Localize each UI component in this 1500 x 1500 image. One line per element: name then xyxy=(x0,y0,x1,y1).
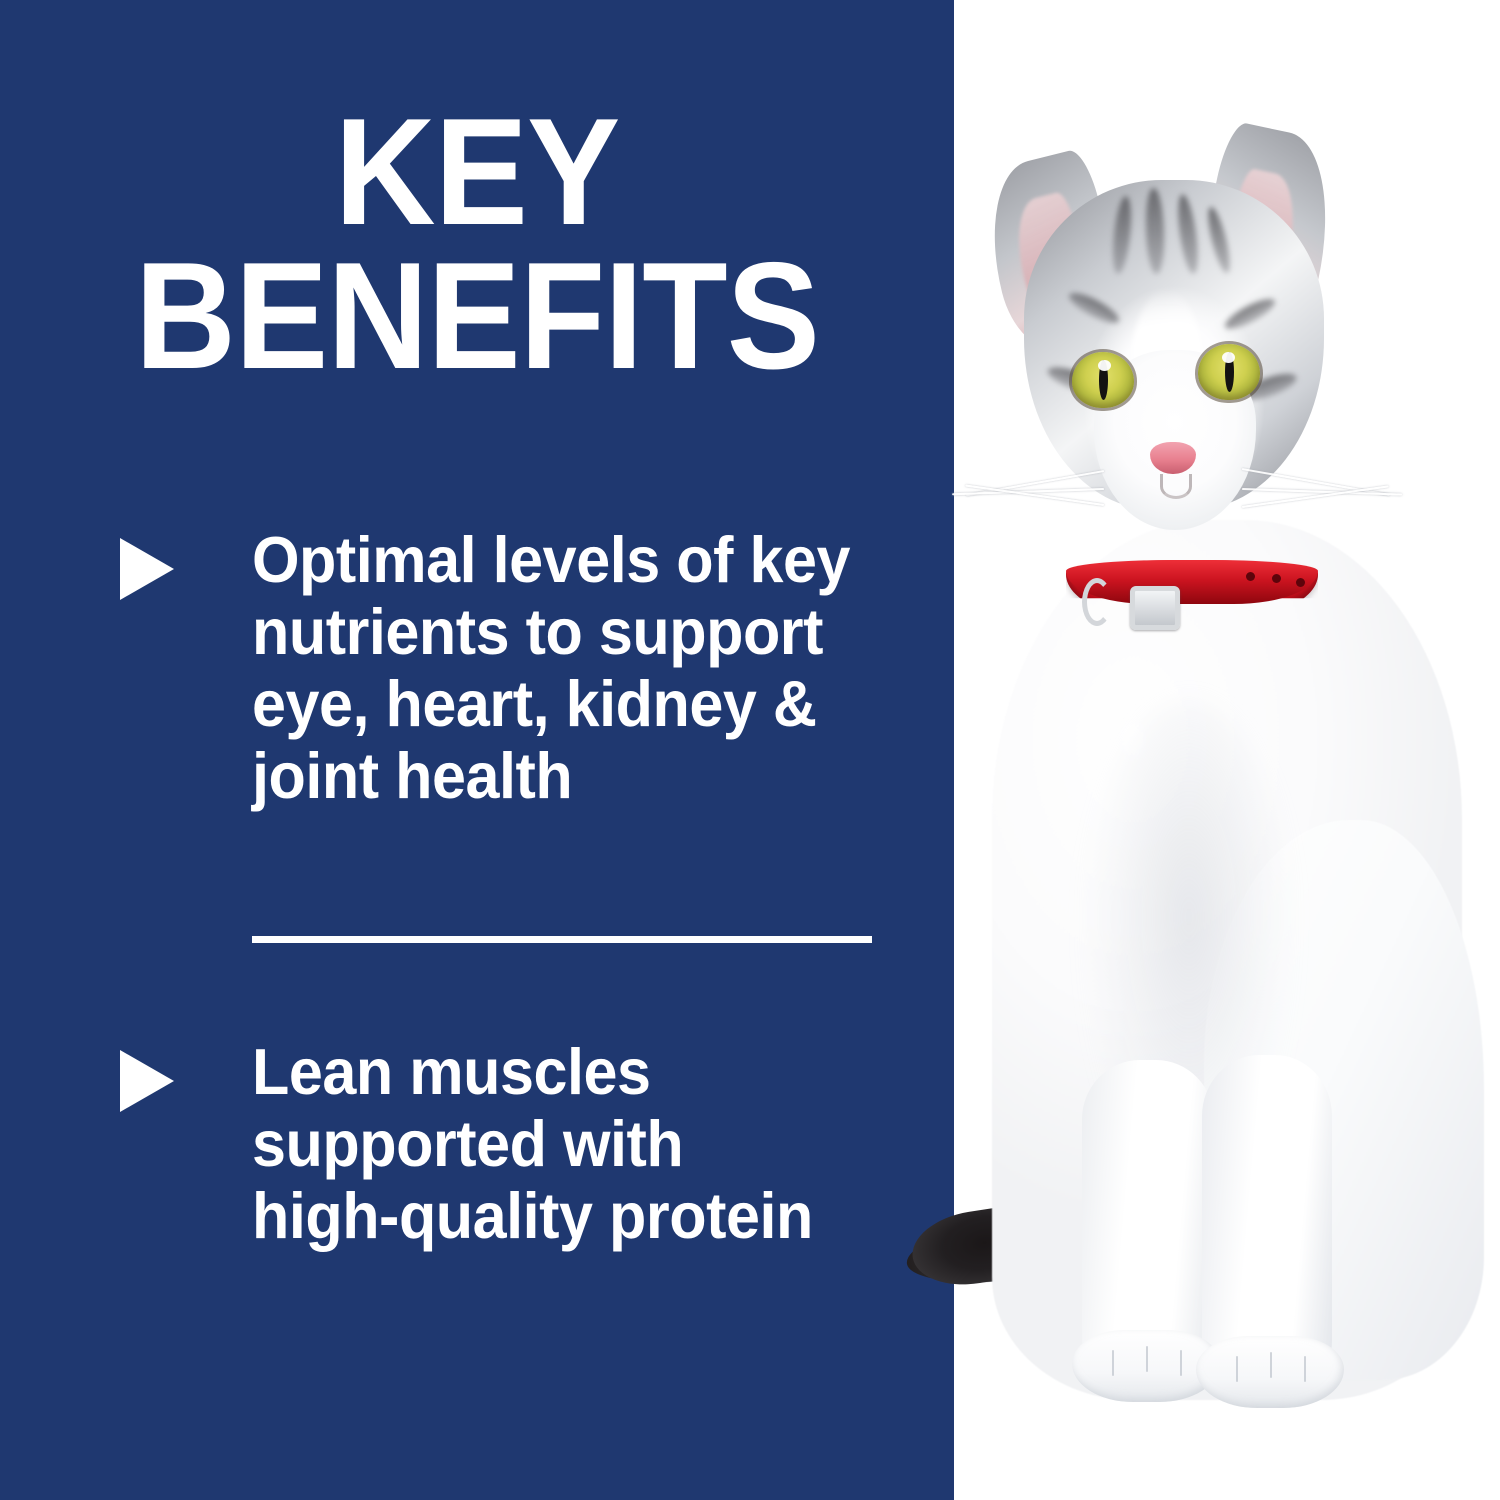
cat-mouth xyxy=(1160,474,1192,499)
cat-photo xyxy=(954,0,1500,1500)
triangle-bullet-icon xyxy=(120,538,174,600)
triangle-bullet-icon xyxy=(120,1050,174,1112)
cat-eye-glint xyxy=(1098,360,1111,371)
cat-toe xyxy=(1146,1346,1148,1372)
cat-toe xyxy=(1270,1352,1272,1378)
cat-illustration xyxy=(954,0,1500,1500)
cat-toe xyxy=(1112,1350,1114,1376)
cat-toe xyxy=(1180,1350,1182,1376)
collar-ring xyxy=(1082,578,1112,626)
collar-hole xyxy=(1246,572,1255,581)
benefit-item-2-text: Lean muscles supported with high-quality… xyxy=(252,1036,852,1252)
benefit-item-2: Lean muscles supported with high-quality… xyxy=(120,1036,890,1252)
benefit-item-1-text: Optimal levels of key nutrients to suppo… xyxy=(252,524,852,813)
page-title-line-1: KEY xyxy=(38,100,916,244)
key-benefits-panel: KEY BENEFITS Optimal levels of key nutri… xyxy=(0,0,954,1500)
collar-hole xyxy=(1296,578,1305,587)
benefit-divider xyxy=(252,936,872,943)
collar-buckle xyxy=(1130,586,1180,630)
promo-banner: KEY BENEFITS Optimal levels of key nutri… xyxy=(0,0,1500,1500)
cat-toe xyxy=(1304,1356,1306,1382)
page-title: KEY BENEFITS xyxy=(38,100,916,389)
benefit-item-1: Optimal levels of key nutrients to suppo… xyxy=(120,524,890,813)
cat-toe xyxy=(1236,1356,1238,1382)
cat-eye-glint xyxy=(1222,352,1235,363)
cat-paw-right xyxy=(1196,1336,1344,1408)
collar-hole xyxy=(1272,574,1281,583)
page-title-line-2: BENEFITS xyxy=(38,244,916,388)
